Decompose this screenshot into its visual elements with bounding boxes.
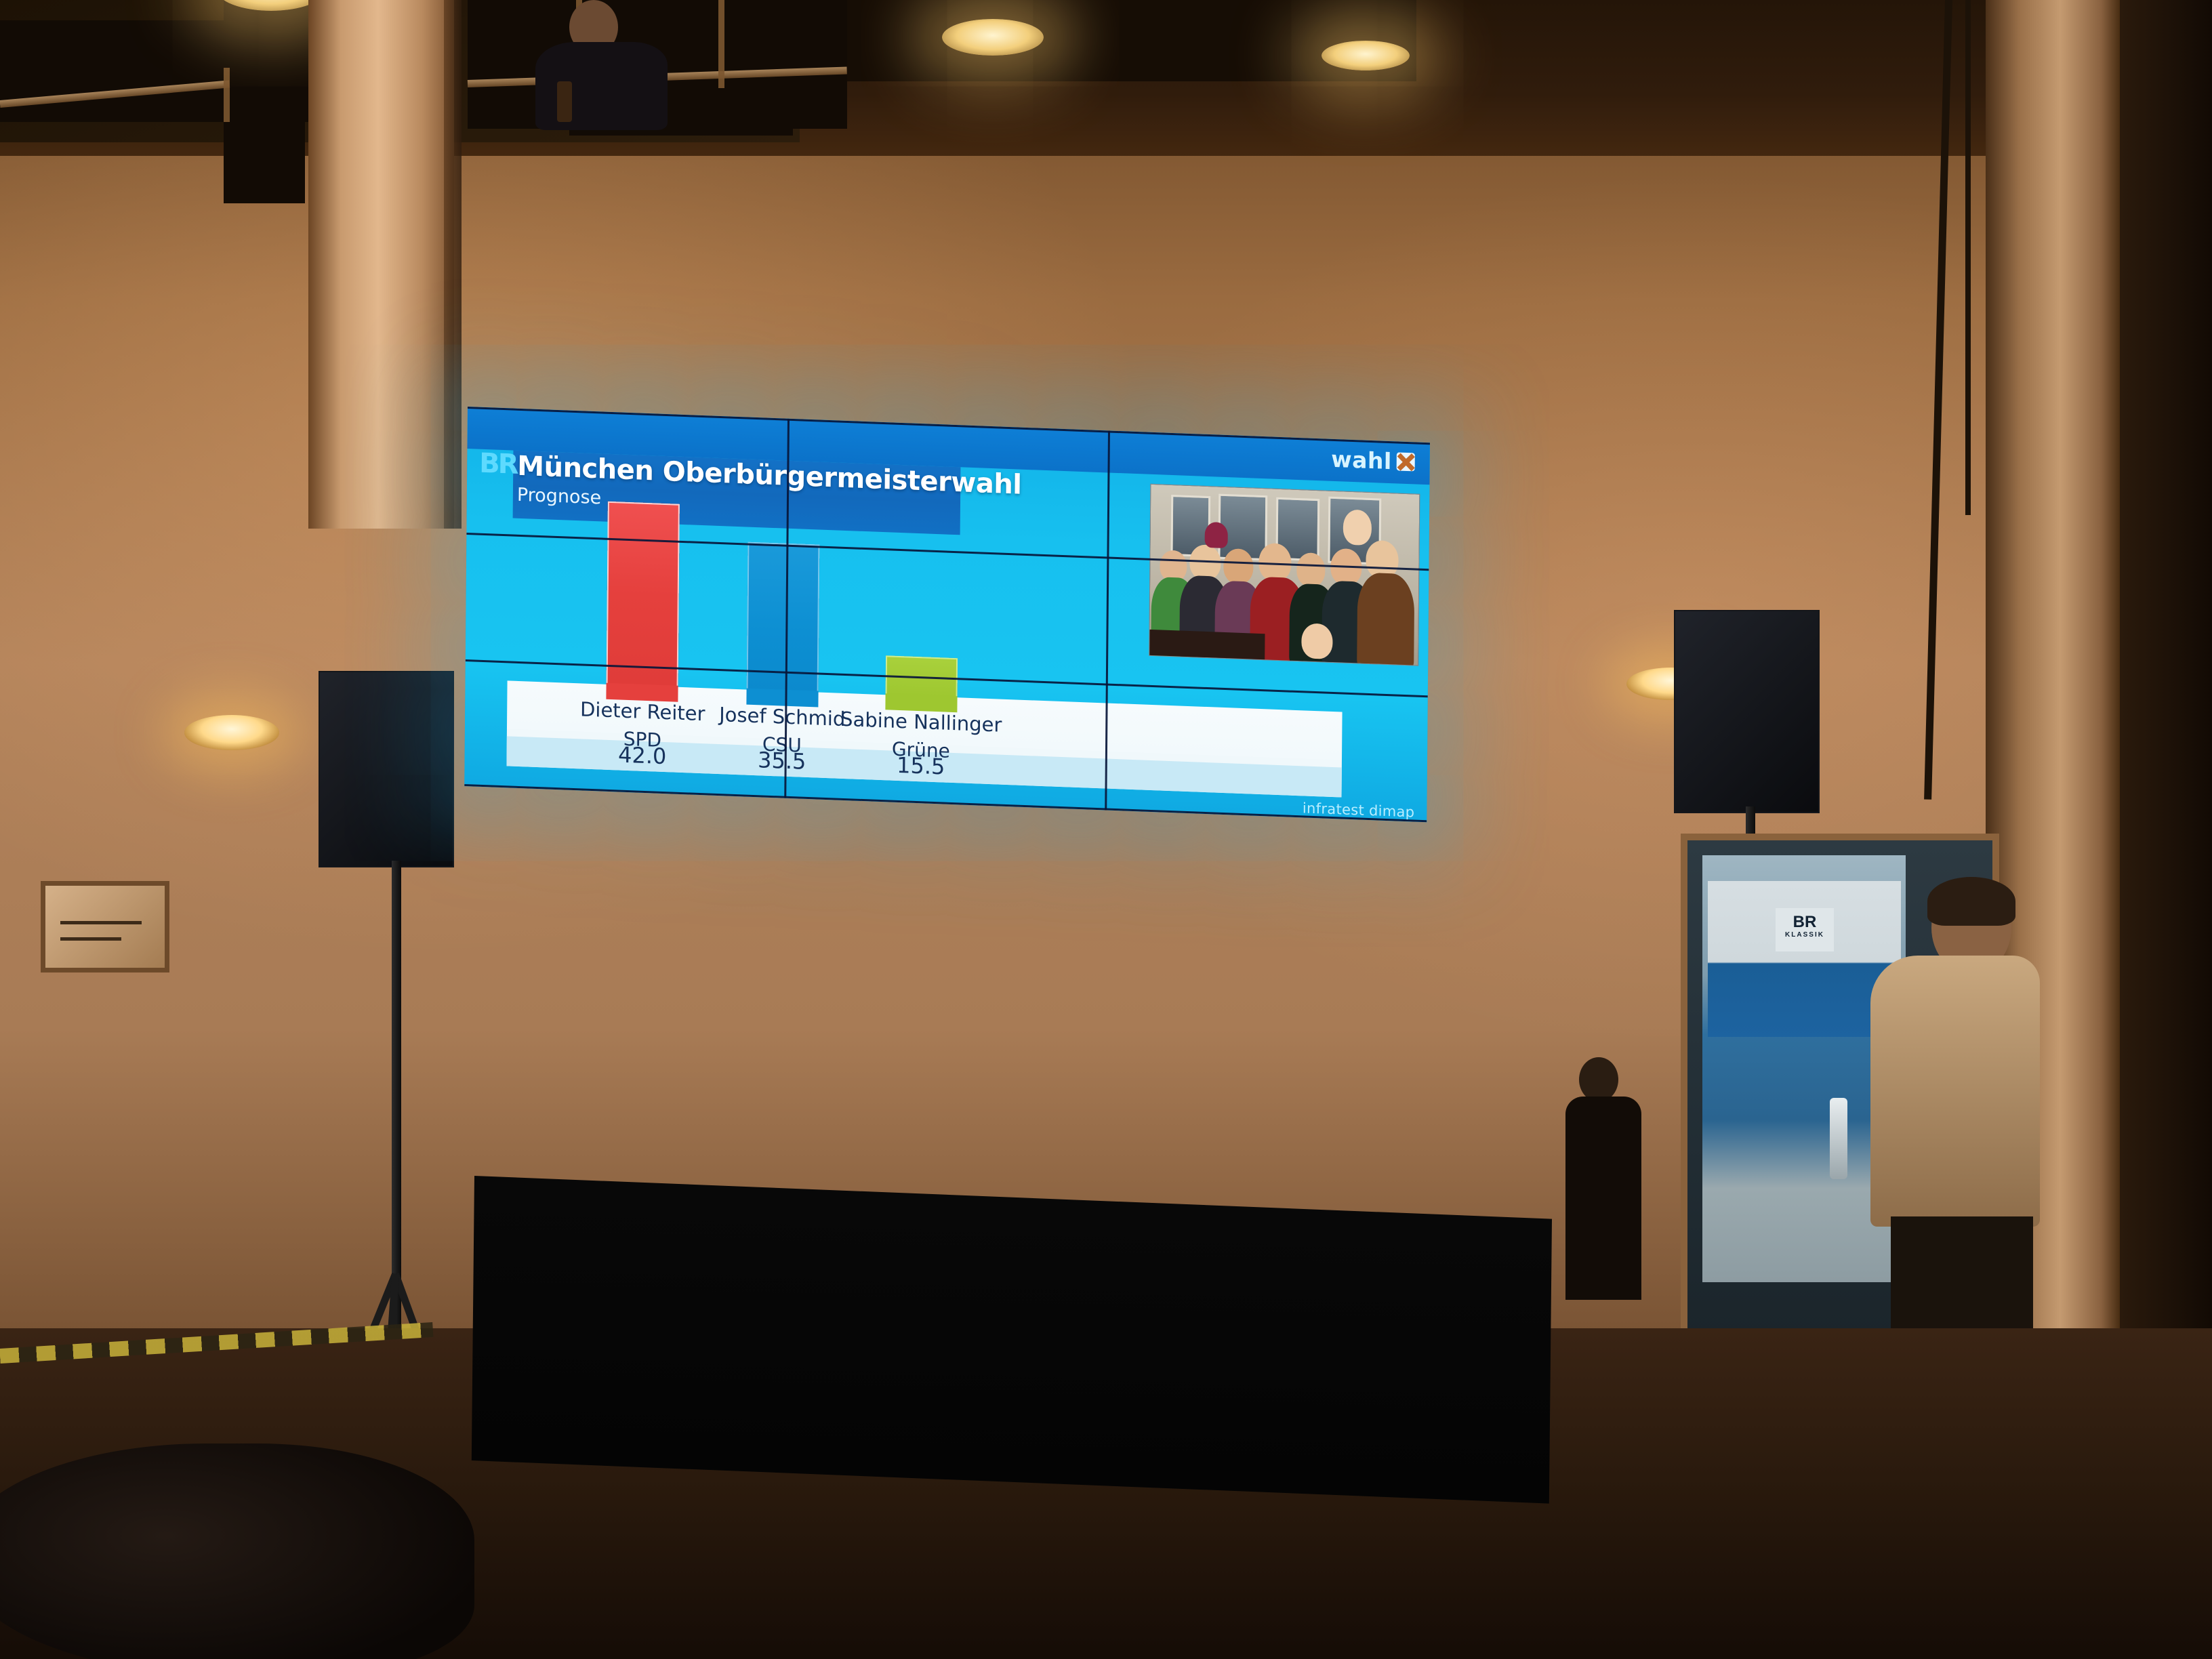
wahl-logo-text: wahl — [1331, 446, 1392, 474]
wall-picture-lines-2 — [60, 937, 121, 941]
silhouette-head — [1579, 1057, 1618, 1102]
wall-picture-frame — [41, 881, 169, 972]
page-subtitle: Prognose — [517, 485, 602, 509]
van-logo-br: BR — [1776, 914, 1834, 931]
pa-speaker-left — [319, 671, 454, 867]
window-niche-left — [102, 27, 224, 115]
video-wall-base-skirt — [472, 1176, 1552, 1504]
pa-speaker-right — [1674, 610, 1820, 813]
ceiling-lamp-3 — [1322, 41, 1410, 70]
railing-post-4 — [718, 0, 724, 88]
foreground-equipment — [0, 1443, 474, 1659]
lobby-pillar-shadow — [444, 0, 462, 529]
wall-sconce-left — [184, 715, 279, 750]
ceiling-lamp-2 — [942, 19, 1044, 56]
video-wall[interactable]: wahl BR München Oberbürgermeisterwahl Pr… — [464, 407, 1430, 822]
lobby-pillar-center — [308, 0, 454, 529]
silhouette-body — [1565, 1097, 1641, 1300]
person-balcony-bottle — [557, 81, 572, 122]
wahl-logo: wahl — [1331, 446, 1415, 476]
ballot-x-icon — [1397, 452, 1415, 471]
railing-post-1 — [224, 68, 230, 122]
person-silhouette-near-wall — [1565, 1057, 1647, 1301]
photo-person-8-head — [1343, 509, 1372, 546]
van-logo-klassik: KLASSIK — [1776, 931, 1834, 939]
hoodie-person-body — [1870, 956, 2040, 1227]
window-niche-upper — [224, 122, 305, 203]
candidate-cell-3: Sabine Nallinger Grüne 15.5 — [826, 693, 1017, 785]
person-on-balcony — [515, 0, 684, 129]
van-br-klassik-logo: BR KLASSIK — [1776, 908, 1834, 951]
br-logo: BR — [479, 451, 510, 480]
video-wall-screen[interactable]: wahl BR München Oberbürgermeisterwahl Pr… — [464, 407, 1430, 822]
person-in-hoodie — [1857, 881, 2060, 1389]
election-graphic: wahl BR München Oberbürgermeisterwahl Pr… — [464, 407, 1430, 822]
hanging-cable-2 — [1965, 0, 1971, 515]
candidate-name-3: Sabine Nallinger — [826, 693, 1016, 736]
room-scene: BR KLASSIK wahl — [0, 0, 2212, 1659]
street-bollard — [1830, 1098, 1847, 1179]
person-balcony-torso — [535, 42, 668, 130]
hoodie-person-hair — [1927, 877, 2015, 926]
wall-picture-lines — [60, 921, 142, 924]
